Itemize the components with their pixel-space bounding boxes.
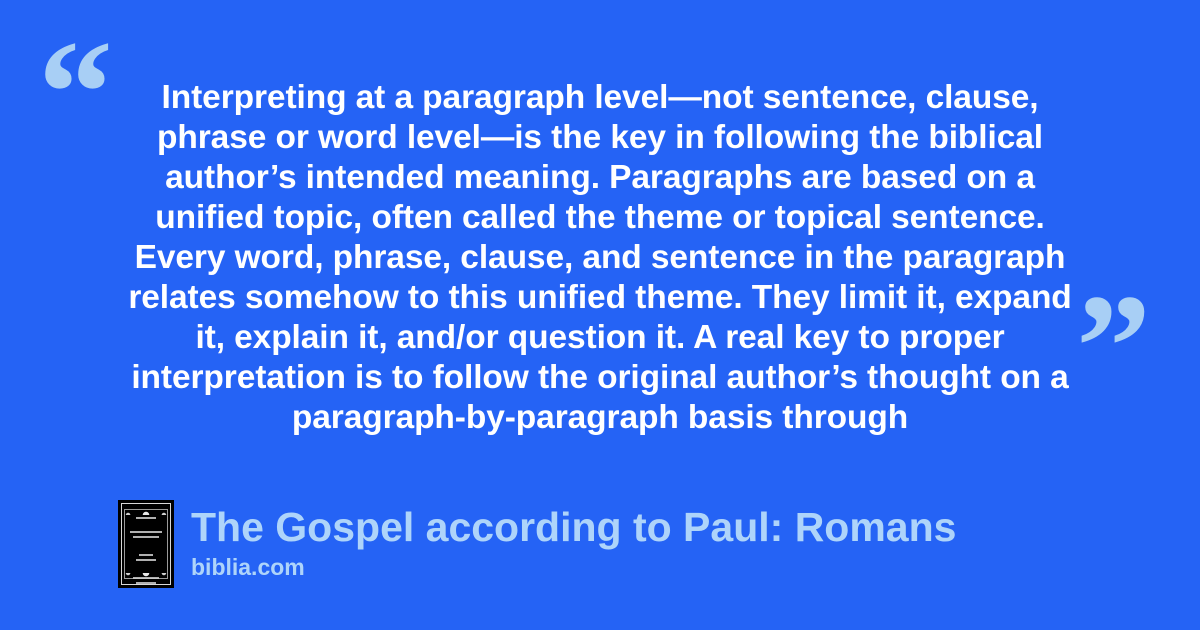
cover-line: [133, 536, 158, 538]
cover-line: [133, 577, 158, 579]
quote-card: “ Interpreting at a paragraph level—not …: [0, 0, 1200, 630]
cover-line: [136, 517, 156, 519]
cover-line: [139, 554, 153, 556]
attribution-text: The Gospel according to Paul: Romans bib…: [191, 500, 956, 580]
cover-text-placeholder: [128, 517, 164, 571]
quote-block: Interpreting at a paragraph level—not se…: [110, 78, 1090, 438]
opening-quote-mark: “: [38, 18, 113, 168]
cover-line: [130, 531, 162, 533]
cover-line: [136, 559, 156, 561]
closing-quote-mark: ”: [1076, 272, 1151, 422]
book-cover-thumbnail[interactable]: [118, 500, 174, 588]
book-title[interactable]: The Gospel according to Paul: Romans: [191, 504, 956, 550]
cover-line: [136, 582, 156, 584]
attribution-footer: The Gospel according to Paul: Romans bib…: [118, 500, 956, 588]
site-name[interactable]: biblia.com: [191, 554, 956, 580]
quote-text: Interpreting at a paragraph level—not se…: [110, 78, 1090, 438]
